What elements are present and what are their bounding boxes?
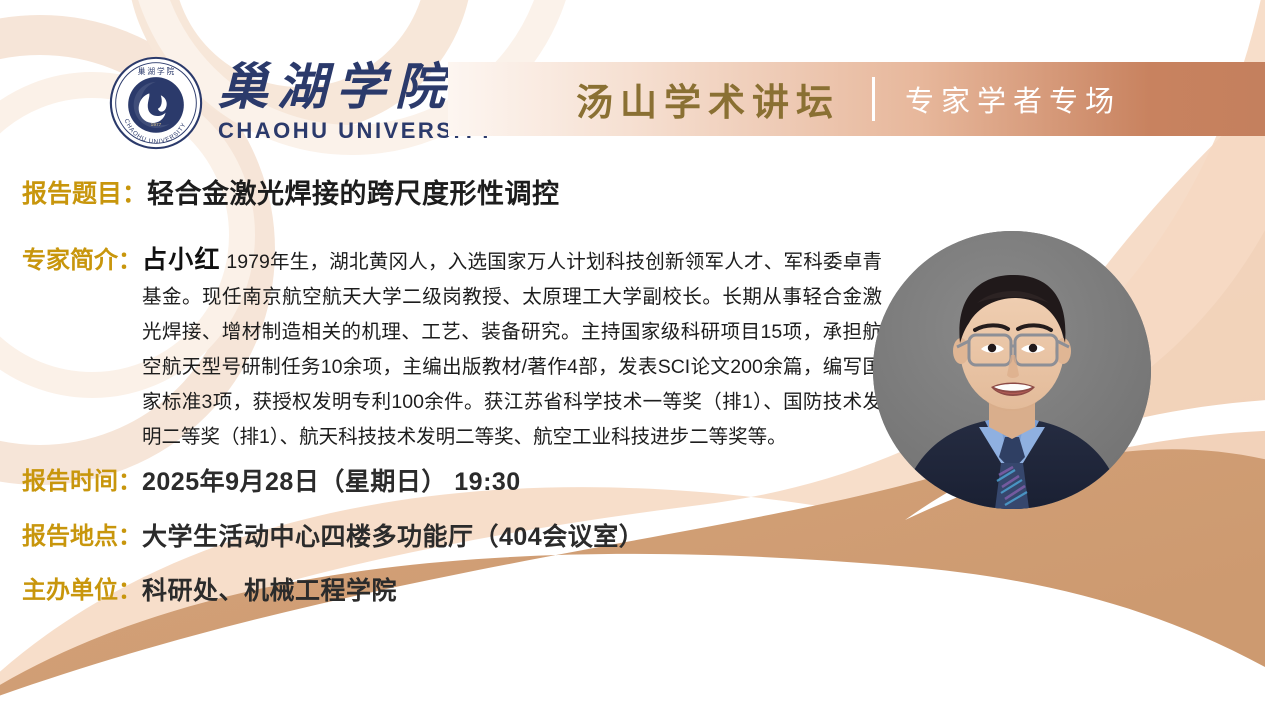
speaker-bio-body: 占小红 1979年生，湖北黄冈人，入选国家万人计划科技创新领军人才、军科委卓青基…	[142, 243, 882, 455]
lecture-host-label: 主办单位：	[22, 574, 142, 608]
svg-text:1977: 1977	[151, 122, 162, 128]
chaohu-university-seal-icon: 巢 湖 学 院 1977 CHAOHU UNIVERSITY	[108, 55, 204, 151]
speaker-bio-text: 1979年生，湖北黄冈人，入选国家万人计划科技创新领军人才、军科委卓青基金。现任…	[142, 251, 882, 448]
speaker-bio-label: 专家简介：	[22, 243, 142, 278]
speaker-bio-row: 专家简介： 占小红 1979年生，湖北黄冈人，入选国家万人计划科技创新领军人才、…	[22, 243, 882, 455]
lecture-host-row: 主办单位： 科研处、机械工程学院	[22, 574, 397, 608]
lecture-time-row: 报告时间： 2025年9月28日（星期日） 19:30	[22, 465, 521, 499]
lecture-place-row: 报告地点： 大学生活动中心四楼多功能厅（404会议室）	[22, 520, 644, 554]
lecture-title-value: 轻合金激光焊接的跨尺度形性调控	[147, 176, 560, 212]
lecture-title-row: 报告题目： 轻合金激光焊接的跨尺度形性调控	[22, 176, 560, 212]
lecture-place-label: 报告地点：	[22, 520, 142, 554]
lecture-host-value: 科研处、机械工程学院	[142, 574, 397, 608]
svg-text:巢 湖 学 院: 巢 湖 学 院	[138, 66, 175, 76]
lecture-series-banner: 汤山学术讲坛 专家学者专场	[448, 62, 1265, 136]
lecture-place-value: 大学生活动中心四楼多功能厅（404会议室）	[142, 520, 644, 554]
poster-header: 巢 湖 学 院 1977 CHAOHU UNIVERSITY 巢湖学院 CHAO…	[0, 0, 1265, 160]
university-name-cn: 巢湖学院	[218, 62, 454, 112]
lecture-title-label: 报告题目：	[22, 176, 147, 212]
banner-divider	[872, 77, 875, 121]
lecture-time-value: 2025年9月28日（星期日） 19:30	[142, 465, 521, 499]
banner-subtitle: 专家学者专场	[905, 78, 1121, 120]
lecture-poster: 巢 湖 学 院 1977 CHAOHU UNIVERSITY 巢湖学院 CHAO…	[0, 0, 1265, 710]
university-logo-block: 巢 湖 学 院 1977 CHAOHU UNIVERSITY 巢湖学院 CHAO…	[108, 55, 495, 151]
speaker-name: 占小红	[142, 246, 221, 274]
banner-main-title: 汤山学术讲坛	[576, 72, 840, 126]
speaker-portrait-photo	[873, 231, 1151, 509]
lecture-time-label: 报告时间：	[22, 465, 142, 499]
